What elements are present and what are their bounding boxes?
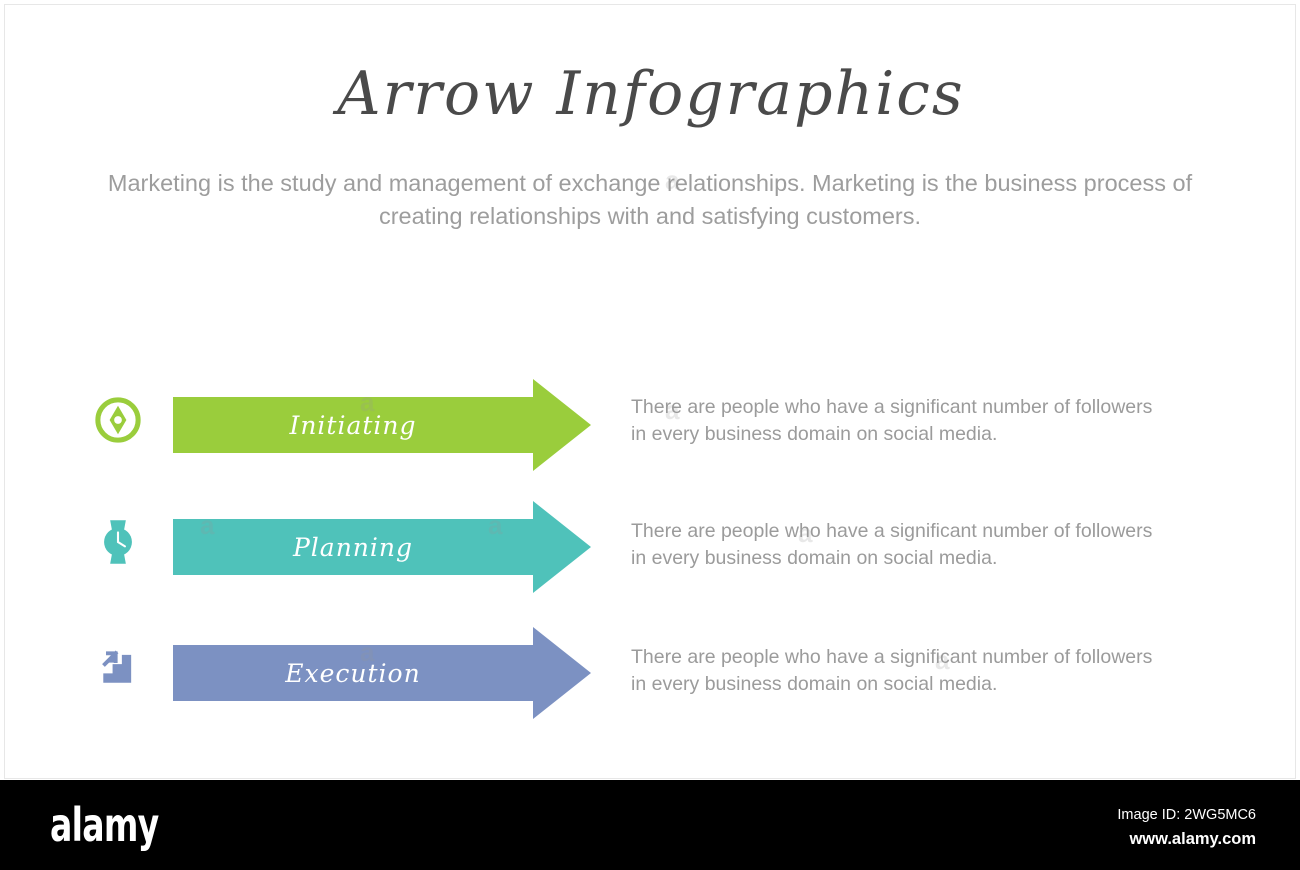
step-row: Initiating There are people who have a s… — [5, 375, 1296, 475]
footer-image-id: Image ID: 2WG5MC6 — [1117, 804, 1256, 826]
footer-meta: Image ID: 2WG5MC6 www.alamy.com — [1117, 804, 1256, 852]
step-row: Execution There are people who have a si… — [5, 623, 1296, 723]
step-description: There are people who have a significant … — [631, 518, 1171, 572]
compass-icon — [87, 389, 149, 451]
arrow-shape[interactable]: Planning — [173, 497, 591, 597]
slide-canvas: Arrow Infographics Marketing is the stud… — [4, 4, 1296, 779]
arrow-shape[interactable]: Initiating — [173, 375, 591, 475]
alamy-logo: alamy — [50, 802, 159, 848]
steps-list: Initiating There are people who have a s… — [5, 5, 1296, 779]
arrow-shape[interactable]: Execution — [173, 623, 591, 723]
step-row: Planning There are people who have a sig… — [5, 497, 1296, 597]
footer-url[interactable]: www.alamy.com — [1117, 826, 1256, 852]
screenshot-root: Arrow Infographics Marketing is the stud… — [0, 0, 1300, 870]
wristwatch-icon — [87, 511, 149, 573]
footer-bar: alamy Image ID: 2WG5MC6 www.alamy.com — [0, 780, 1300, 870]
stairs-growth-icon — [87, 637, 149, 699]
step-description: There are people who have a significant … — [631, 644, 1171, 698]
step-description: There are people who have a significant … — [631, 394, 1171, 448]
